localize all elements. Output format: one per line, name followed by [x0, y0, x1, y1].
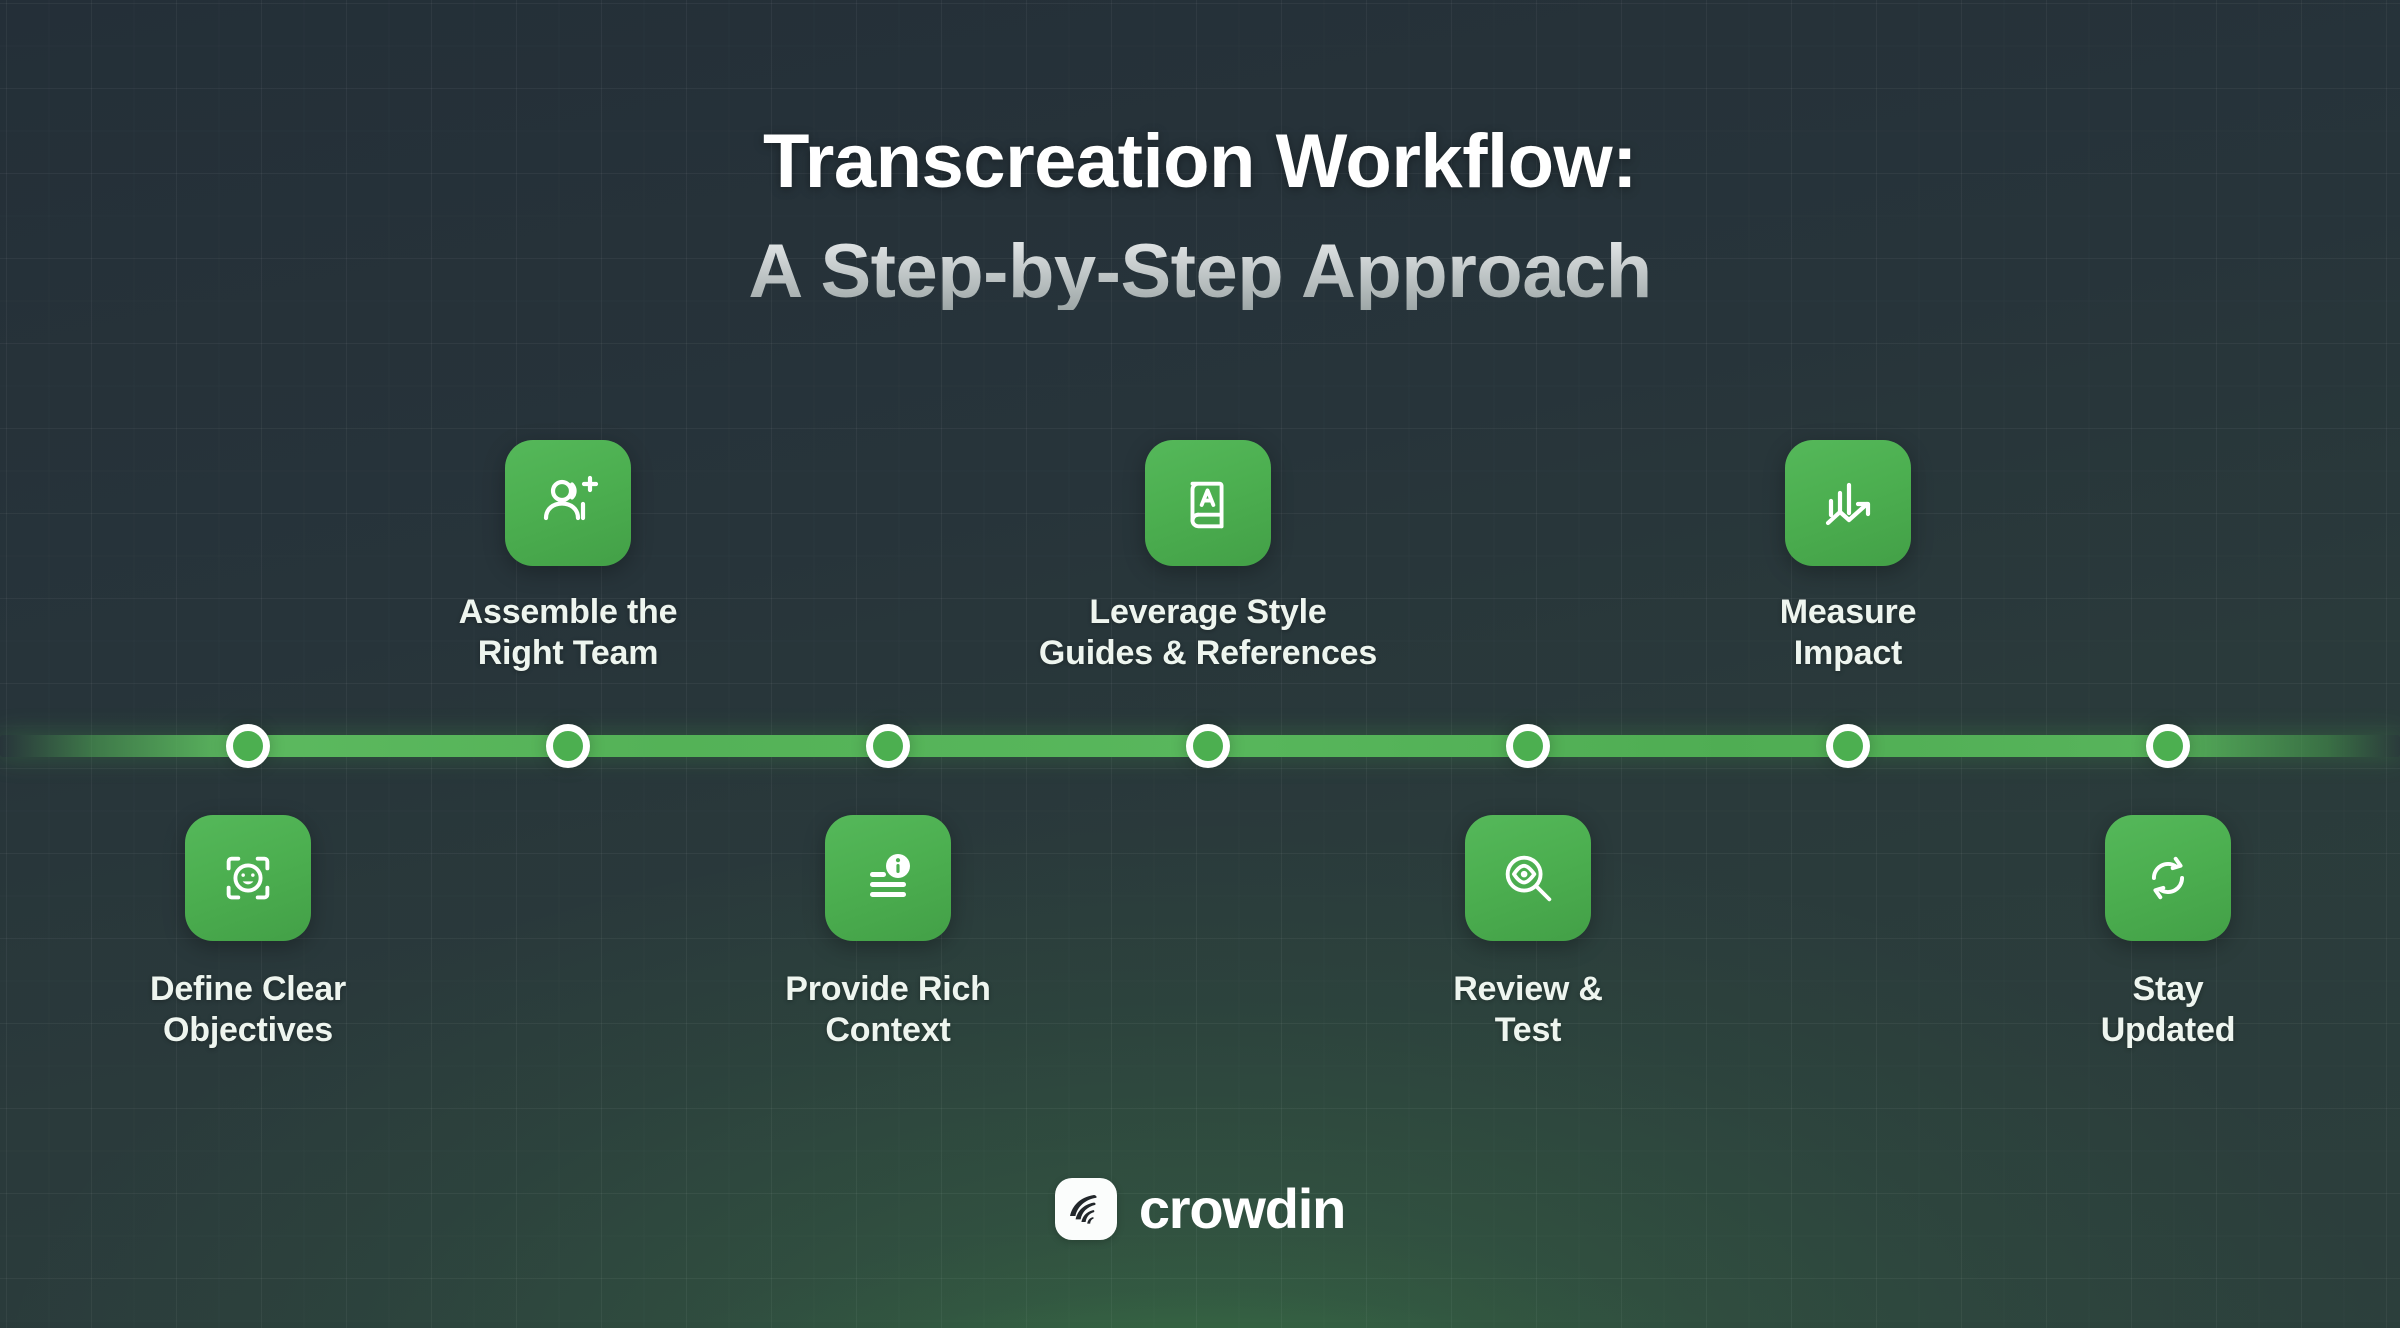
page-title-line1: Transcreation Workflow:: [0, 124, 2400, 200]
timeline-dot-1[interactable]: [226, 724, 270, 768]
step-label-6: Measure Impact: [1678, 592, 2018, 674]
timeline-dot-7[interactable]: [2146, 724, 2190, 768]
step-2: Assemble the Right Team: [398, 440, 738, 674]
timeline-dot-2[interactable]: [546, 724, 590, 768]
magnifier-eye-icon: [1465, 815, 1591, 941]
page-title-line2: A Step-by-Step Approach: [0, 234, 2400, 310]
step-4: Leverage Style Guides & References: [1038, 440, 1378, 674]
crowdin-swoosh-icon: [1055, 1178, 1117, 1240]
step-7: Stay Updated: [1998, 815, 2338, 1051]
document-info-icon: [825, 815, 951, 941]
face-scan-icon: [185, 815, 311, 941]
infographic-canvas: Transcreation Workflow: A Step-by-Step A…: [0, 0, 2400, 1328]
step-label-1: Define Clear Objectives: [78, 969, 418, 1051]
brand-logo-text: crowdin: [1139, 1181, 1345, 1237]
timeline-dot-5[interactable]: [1506, 724, 1550, 768]
step-label-5: Review & Test: [1358, 969, 1698, 1051]
book-letter-a-icon: [1145, 440, 1271, 566]
step-label-2: Assemble the Right Team: [398, 592, 738, 674]
step-5: Review & Test: [1358, 815, 1698, 1051]
step-6: Measure Impact: [1678, 440, 2018, 674]
refresh-sync-icon: [2105, 815, 2231, 941]
timeline-dot-6[interactable]: [1826, 724, 1870, 768]
timeline-dot-4[interactable]: [1186, 724, 1230, 768]
step-1: Define Clear Objectives: [78, 815, 418, 1051]
step-label-4: Leverage Style Guides & References: [1038, 592, 1378, 674]
title-block: Transcreation Workflow: A Step-by-Step A…: [0, 124, 2400, 310]
step-label-7: Stay Updated: [1998, 969, 2338, 1051]
timeline-dot-3[interactable]: [866, 724, 910, 768]
step-3: Provide Rich Context: [718, 815, 1058, 1051]
brand-logo: crowdin: [0, 1178, 2400, 1240]
chart-trend-up-icon: [1785, 440, 1911, 566]
step-label-3: Provide Rich Context: [718, 969, 1058, 1051]
person-add-icon: [505, 440, 631, 566]
